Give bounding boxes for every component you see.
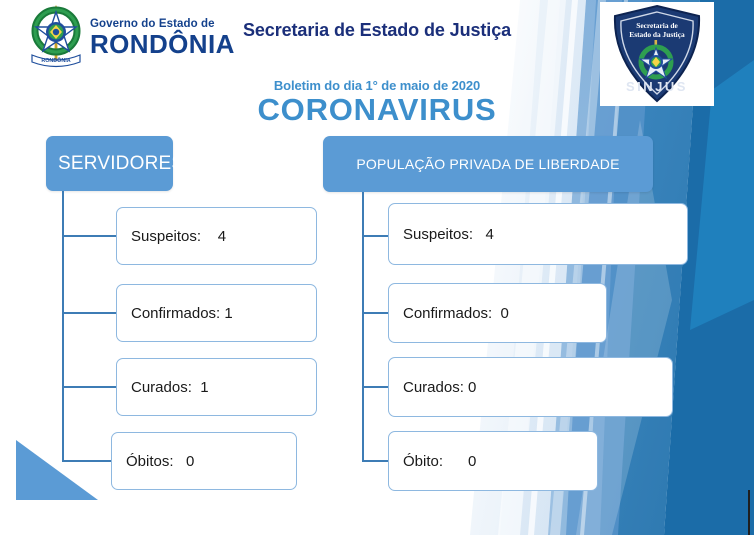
slide-canvas: RONDÔNIA Governo do Estado de RONDÔNIA S… [0, 0, 754, 535]
stat-box-populacao-confirmados[interactable]: Confirmados: 0 [388, 283, 607, 343]
connector-branch-left-3 [62, 386, 116, 388]
svg-text:RONDÔNIA: RONDÔNIA [41, 56, 70, 64]
stat-box-servidores-curados[interactable]: Curados: 1 [116, 358, 317, 416]
stat-box-populacao-curados[interactable]: Curados: 0 [388, 357, 673, 417]
stat-box-populacao-obito[interactable]: Óbito: 0 [388, 431, 598, 491]
header: RONDÔNIA Governo do Estado de RONDÔNIA S… [0, 0, 754, 120]
connector-trunk-right [362, 192, 364, 462]
stat-box-servidores-obitos[interactable]: Óbitos: 0 [111, 432, 297, 490]
connector-branch-right-1 [362, 235, 388, 237]
stat-box-servidores-confirmados[interactable]: Confirmados: 1 [116, 284, 317, 342]
column-heading-populacao-label: POPULAÇÃO PRIVADA DE LIBERDADE [356, 156, 619, 172]
stat-text-populacao-obito: Óbito: 0 [389, 453, 476, 470]
connector-branch-right-4 [362, 460, 388, 462]
right-edge-rule [748, 490, 750, 535]
svg-text:Estado da Justiça: Estado da Justiça [629, 30, 685, 39]
stat-text-populacao-curados: Curados: 0 [389, 379, 476, 396]
connector-branch-left-1 [62, 235, 116, 237]
connector-branch-right-3 [362, 386, 388, 388]
stat-text-servidores-obitos: Óbitos: 0 [112, 453, 194, 470]
stat-box-servidores-suspeitos[interactable]: Suspeitos: 4 [116, 207, 317, 265]
sinjus-badge-card: Secretaria de Estado da Justiça SINJUS [600, 2, 714, 106]
stat-text-populacao-suspeitos: Suspeitos: 4 [389, 226, 494, 243]
stat-text-populacao-confirmados: Confirmados: 0 [389, 305, 509, 322]
sinjus-shield-badge-icon: Secretaria de Estado da Justiça SINJUS [609, 4, 705, 104]
column-heading-servidores[interactable]: SERVIDORES [46, 136, 173, 191]
triangle-decoration [16, 440, 98, 500]
connector-branch-left-2 [62, 312, 116, 314]
stat-text-servidores-confirmados: Confirmados: 1 [117, 305, 233, 322]
stat-text-servidores-curados: Curados: 1 [117, 379, 209, 396]
connector-branch-left-4 [62, 460, 116, 462]
svg-text:Secretaria de: Secretaria de [636, 21, 678, 30]
column-heading-populacao[interactable]: POPULAÇÃO PRIVADA DE LIBERDADE [323, 136, 653, 192]
connector-trunk-left [62, 191, 64, 461]
stat-box-populacao-suspeitos[interactable]: Suspeitos: 4 [388, 203, 688, 265]
svg-text:SINJUS: SINJUS [626, 79, 688, 94]
column-heading-servidores-label: SERVIDORES [58, 153, 184, 175]
stat-text-servidores-suspeitos: Suspeitos: 4 [117, 228, 226, 245]
connector-branch-right-2 [362, 312, 388, 314]
